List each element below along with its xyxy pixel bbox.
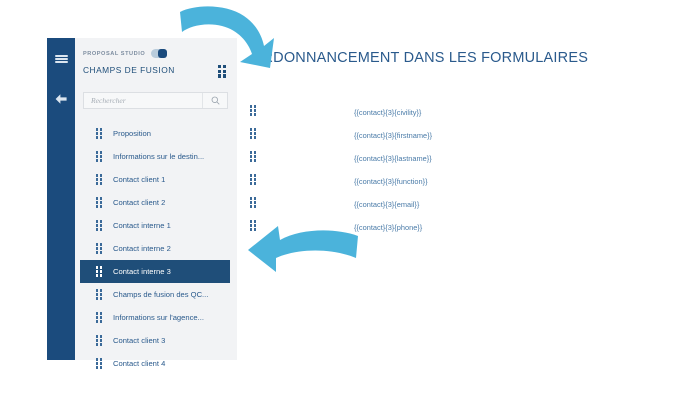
grid-handle-icon — [95, 312, 103, 324]
grid-handle-icon-wrap — [95, 335, 111, 347]
left-rail — [47, 38, 75, 360]
grid-handle-icon — [95, 243, 103, 255]
search-input[interactable] — [84, 92, 202, 109]
list-item-label: Contact client 4 — [113, 359, 165, 368]
grid-handle-icon-wrap — [95, 174, 111, 186]
back-arrow-glyph — [54, 93, 68, 105]
grid-handle-icon-wrap — [95, 289, 111, 301]
grid-handle-icon-wrap — [95, 220, 111, 232]
grid-handle-icon-wrap[interactable] — [249, 196, 265, 214]
merge-field-token: {{contact}{3}{civility}} — [354, 108, 421, 117]
list-item[interactable]: Contact client 4 — [75, 352, 237, 375]
grid-handle-icon-wrap — [95, 243, 111, 255]
grid-icon-glyph — [217, 64, 227, 78]
grid-handle-icon-wrap — [95, 151, 111, 163]
list-item-label: Informations sur l'agence... — [113, 313, 204, 322]
grid-handle-icon — [249, 128, 257, 140]
grid-handle-icon-wrap[interactable] — [249, 219, 265, 237]
grid-handle-icon — [95, 220, 103, 232]
list-item-label: Champs de fusion des QC... — [113, 290, 208, 299]
merge-field-token: {{contact}{3}{firstname}} — [354, 131, 432, 140]
merge-field-token: {{contact}{3}{email}} — [354, 200, 419, 209]
grid-handle-icon-wrap[interactable] — [249, 150, 265, 168]
grid-handle-icon — [95, 358, 103, 370]
list-item[interactable]: Contact client 2 — [75, 191, 237, 214]
grid-handle-icon — [95, 128, 103, 140]
search-button[interactable] — [203, 93, 227, 108]
grid-handle-icon-wrap — [95, 358, 111, 370]
list-item-label: Contact interne 2 — [113, 244, 171, 253]
grid-handle-icon-wrap[interactable] — [249, 104, 265, 122]
list-item-label: Contact client 2 — [113, 198, 165, 207]
merge-field-row[interactable]: {{contact}{3}{lastname}} — [249, 147, 432, 170]
list-item-label: Informations sur le destin... — [113, 152, 204, 161]
merge-field-group-list[interactable]: PropositionInformations sur le destin...… — [75, 122, 237, 375]
list-item-label: Contact interne 3 — [113, 267, 171, 276]
list-item[interactable]: Contact client 1 — [75, 168, 237, 191]
list-item[interactable]: Contact interne 1 — [75, 214, 237, 237]
grid-handle-icon — [95, 335, 103, 347]
grid-icon[interactable] — [217, 64, 227, 83]
list-item[interactable]: Informations sur le destin... — [75, 145, 237, 168]
list-item[interactable]: Informations sur l'agence... — [75, 306, 237, 329]
merge-field-row[interactable]: {{contact}{3}{phone}} — [249, 216, 432, 239]
grid-handle-icon — [249, 197, 257, 209]
list-item-label: Contact interne 1 — [113, 221, 171, 230]
grid-handle-icon — [249, 105, 257, 117]
merge-field-token: {{contact}{3}{function}} — [354, 177, 428, 186]
grid-handle-icon-wrap[interactable] — [249, 173, 265, 191]
grid-handle-icon — [249, 220, 257, 232]
list-item-label: Contact client 1 — [113, 175, 165, 184]
merge-field-row[interactable]: {{contact}{3}{civility}} — [249, 101, 432, 124]
back-arrow-icon[interactable] — [47, 86, 75, 112]
grid-handle-icon — [95, 266, 103, 278]
merge-field-token: {{contact}{3}{phone}} — [354, 223, 422, 232]
brand-label: PROPOSAL STUDIO — [83, 51, 145, 57]
merge-field-token: {{contact}{3}{lastname}} — [354, 154, 432, 163]
list-item[interactable]: Contact client 3 — [75, 329, 237, 352]
toggle-knob — [158, 49, 167, 58]
list-item[interactable]: Proposition — [75, 122, 237, 145]
grid-handle-icon-wrap — [95, 266, 111, 278]
merge-fields-panel: PROPOSAL STUDIO CHAMPS DE FUSION — [75, 38, 237, 360]
list-item-label: Proposition — [113, 129, 151, 138]
merge-field-list[interactable]: {{contact}{3}{civility}}{{contact}{3}{fi… — [249, 101, 432, 239]
list-item[interactable]: Champs de fusion des QC... — [75, 283, 237, 306]
grid-handle-icon — [95, 174, 103, 186]
grid-handle-icon-wrap — [95, 197, 111, 209]
grid-handle-icon — [249, 151, 257, 163]
grid-handle-icon-wrap — [95, 128, 111, 140]
merge-field-row[interactable]: {{contact}{3}{firstname}} — [249, 124, 432, 147]
brand-toggle[interactable] — [151, 49, 167, 58]
grid-handle-icon — [95, 289, 103, 301]
grid-handle-icon — [95, 151, 103, 163]
grid-handle-icon-wrap — [95, 312, 111, 324]
merge-field-row[interactable]: {{contact}{3}{email}} — [249, 193, 432, 216]
hamburger-icon[interactable] — [47, 46, 75, 72]
sidebar-item-selected[interactable]: Contact interne 3 — [80, 260, 230, 283]
list-item[interactable]: Contact interne 2 — [75, 237, 237, 260]
grid-handle-icon — [249, 174, 257, 186]
list-item-label: Contact client 3 — [113, 336, 165, 345]
merge-field-row[interactable]: {{contact}{3}{function}} — [249, 170, 432, 193]
search-icon — [211, 96, 220, 105]
brand-row: PROPOSAL STUDIO — [83, 49, 167, 58]
grid-handle-icon-wrap[interactable] — [249, 127, 265, 145]
page-title: ORDONNANCEMENT DANS LES FORMULAIRES — [251, 50, 588, 66]
search-box[interactable] — [83, 92, 228, 109]
panel-title: CHAMPS DE FUSION — [83, 65, 175, 75]
app-screenshot: PROPOSAL STUDIO CHAMPS DE FUSION — [0, 0, 700, 400]
grid-handle-icon — [95, 197, 103, 209]
